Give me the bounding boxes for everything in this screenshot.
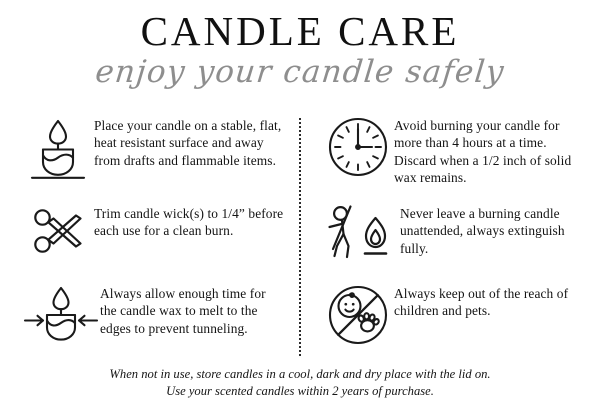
icon-container	[322, 202, 400, 262]
tip-text: Avoid burning your candle for more than …	[394, 114, 586, 187]
candle-on-surface-icon	[27, 116, 89, 180]
tips-columns: Place your candle on a stable, flat, hea…	[0, 114, 600, 360]
tip-text: Always keep out of the reach of children…	[394, 282, 586, 320]
candle-tunneling-arrows-icon	[22, 284, 100, 346]
tip-text: Always allow enough time for the candle …	[100, 282, 284, 337]
footer-line-2: Use your scented candles within 2 years …	[0, 383, 600, 400]
tip-item: Never leave a burning candle unattended,…	[322, 202, 586, 282]
tip-item: Always allow enough time for the candle …	[22, 282, 284, 360]
tip-item: Trim candle wick(s) to 1/4” before each …	[22, 202, 284, 282]
tip-item: Always keep out of the reach of children…	[322, 282, 586, 360]
card-header: CANDLE CARE enjoy your candle safely	[0, 0, 600, 90]
clock-icon	[327, 116, 389, 178]
tip-item: Place your candle on a stable, flat, hea…	[22, 114, 284, 202]
tip-text: Place your candle on a stable, flat, hea…	[94, 114, 284, 169]
page-title: CANDLE CARE	[0, 9, 600, 53]
icon-container	[322, 282, 394, 346]
tip-item: Avoid burning your candle for more than …	[322, 114, 586, 202]
tip-text: Trim candle wick(s) to 1/4” before each …	[94, 202, 284, 240]
icon-container	[22, 202, 94, 260]
icon-container	[322, 114, 394, 178]
page-subtitle: enjoy your candle safely	[0, 54, 600, 90]
left-column: Place your candle on a stable, flat, hea…	[0, 114, 300, 360]
tip-text: Never leave a burning candle unattended,…	[400, 202, 586, 257]
person-leaving-fire-icon	[323, 204, 399, 262]
right-column: Avoid burning your candle for more than …	[300, 114, 600, 360]
footer-line-1: When not in use, store candles in a cool…	[0, 366, 600, 383]
no-children-pets-icon	[327, 284, 389, 346]
scissors-icon	[29, 204, 87, 260]
icon-container	[22, 114, 94, 180]
candle-care-card: CANDLE CARE enjoy your candle safely	[0, 0, 600, 419]
icon-container	[22, 282, 100, 346]
footer-note: When not in use, store candles in a cool…	[0, 366, 600, 399]
